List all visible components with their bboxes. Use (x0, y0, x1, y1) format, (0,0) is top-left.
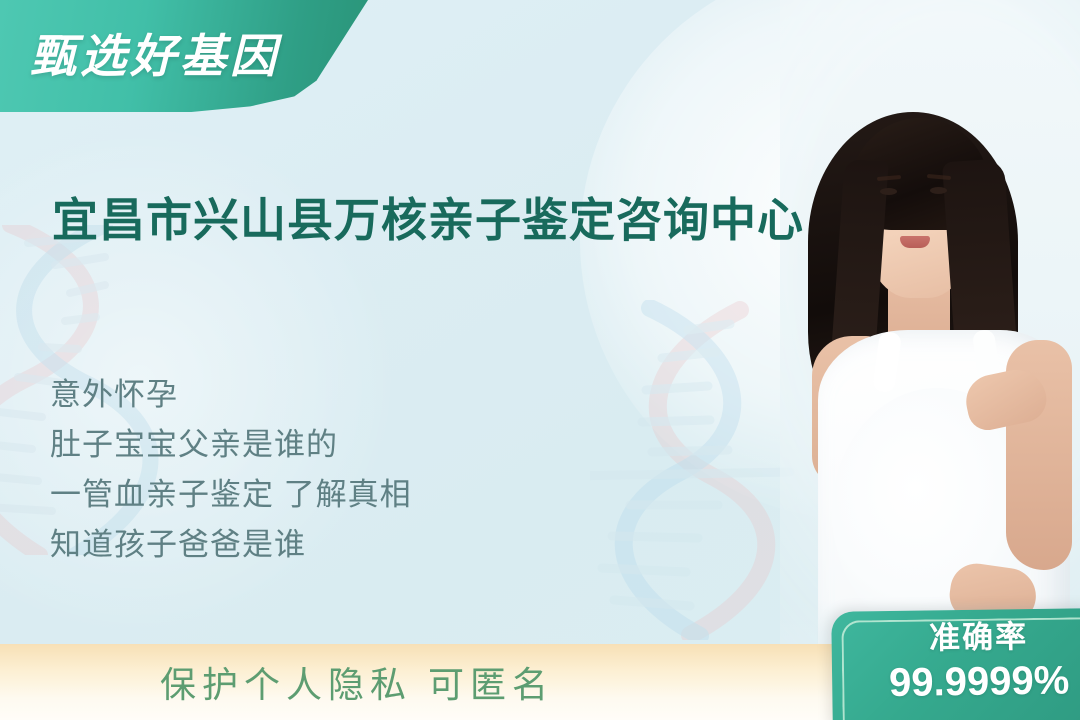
privacy-statement: 保护个人隐私 可匿名 (160, 656, 554, 708)
dna-helix-icon-top-right (855, 60, 1080, 330)
brand-banner: 甄选好基因 (0, 0, 368, 112)
body-copy-line: 肚子宝宝父亲是谁的 (50, 420, 610, 470)
background-glow-right (580, 0, 1080, 520)
accuracy-badge-label: 准确率 (865, 616, 1080, 659)
pregnant-woman-photo (780, 0, 1080, 690)
body-copy-line: 知道孩子爸爸是谁 (50, 520, 610, 570)
accuracy-badge: 准确率 99.9999% (831, 608, 1080, 720)
body-copy-line: 意外怀孕 (50, 370, 610, 420)
body-copy-line: 一管血亲子鉴定 了解真相 (50, 470, 610, 520)
page-title: 宜昌市兴山县万核亲子鉴定咨询中心 (52, 189, 852, 252)
promotional-poster: 甄选好基因 宜昌市兴山县万核亲子鉴定咨询中心 意外怀孕 肚子宝宝父亲是谁的 一管… (0, 0, 1080, 720)
dna-helix-icon-center (590, 300, 910, 640)
accuracy-badge-value: 99.9999% (866, 656, 1080, 707)
body-copy: 意外怀孕 肚子宝宝父亲是谁的 一管血亲子鉴定 了解真相 知道孩子爸爸是谁 (50, 370, 610, 570)
brand-banner-label: 甄选好基因 (30, 20, 280, 86)
